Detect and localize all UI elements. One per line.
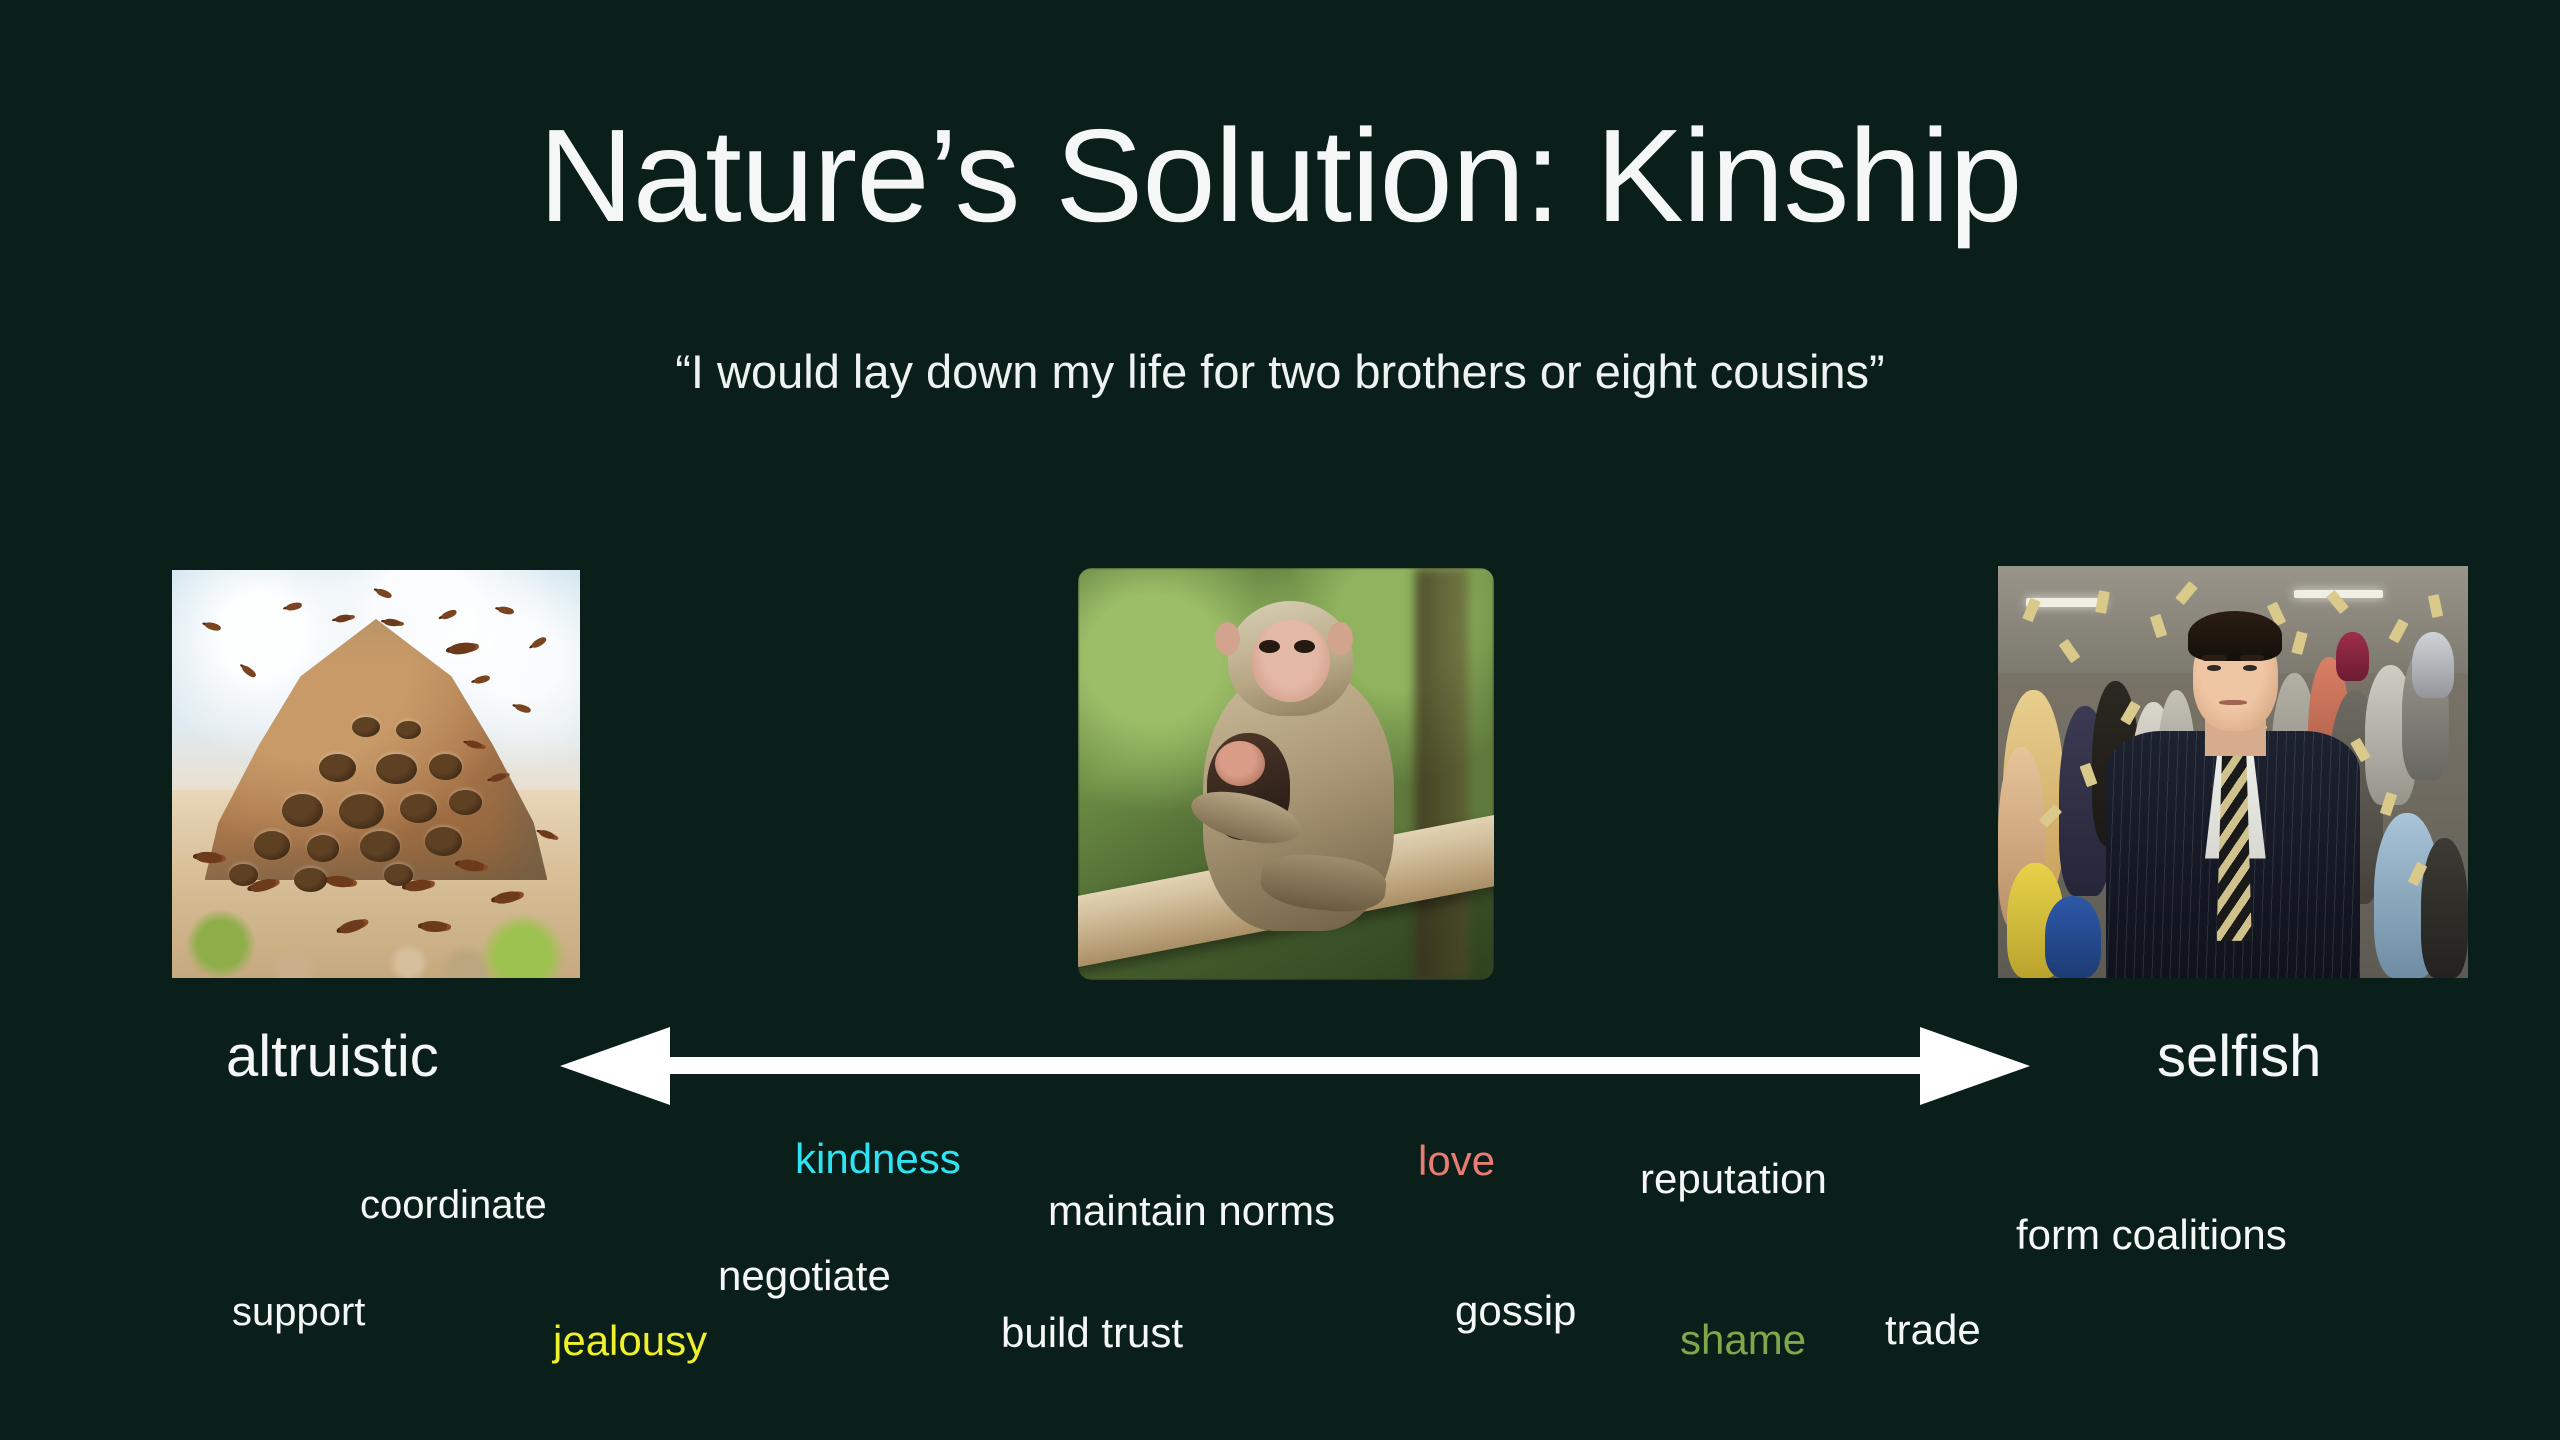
word-cloud-term: form coalitions <box>2016 1214 2287 1256</box>
page-subtitle: “I would lay down my life for two brothe… <box>0 348 2560 395</box>
macaque-ear-left <box>1215 622 1240 655</box>
word-cloud-term: support <box>232 1292 365 1332</box>
page-title: Nature’s Solution: Kinship <box>0 110 2560 242</box>
mouth <box>2219 700 2247 705</box>
macaque-mother-image <box>1078 568 1494 980</box>
ant-mound-holes <box>172 570 580 978</box>
word-cloud-term: love <box>1418 1140 1495 1182</box>
word-cloud-term: coordinate <box>360 1185 547 1225</box>
macaque-face <box>1251 620 1330 702</box>
double-headed-arrow <box>560 1027 2030 1105</box>
word-cloud-term: trade <box>1885 1309 1981 1351</box>
word-cloud-term: negotiate <box>718 1255 891 1297</box>
striped-tie <box>2217 747 2252 941</box>
word-cloud-term: build trust <box>1001 1312 1183 1354</box>
macaque-ear-right <box>1328 622 1353 655</box>
spectrum-label-selfish: selfish <box>2157 1023 2321 1090</box>
tree-trunk <box>1415 568 1469 980</box>
eyebrow-left <box>2202 655 2226 662</box>
spectrum-label-altruistic: altruistic <box>226 1023 439 1090</box>
word-cloud-term: reputation <box>1640 1158 1827 1200</box>
word-cloud-term: shame <box>1680 1319 1806 1361</box>
macaque-eye-left <box>1259 640 1280 653</box>
hair <box>2188 611 2282 660</box>
word-cloud-term: maintain norms <box>1048 1190 1335 1232</box>
word-cloud-term: kindness <box>795 1138 961 1180</box>
wolf-of-wall-street-image <box>1998 566 2468 978</box>
word-cloud-term: jealousy <box>553 1320 707 1362</box>
word-cloud-term: gossip <box>1455 1290 1576 1332</box>
eyebrow-right <box>2240 655 2264 662</box>
slide-root: Nature’s Solution: Kinship “I would lay … <box>0 0 2560 1440</box>
ant-colony-image <box>172 570 580 978</box>
